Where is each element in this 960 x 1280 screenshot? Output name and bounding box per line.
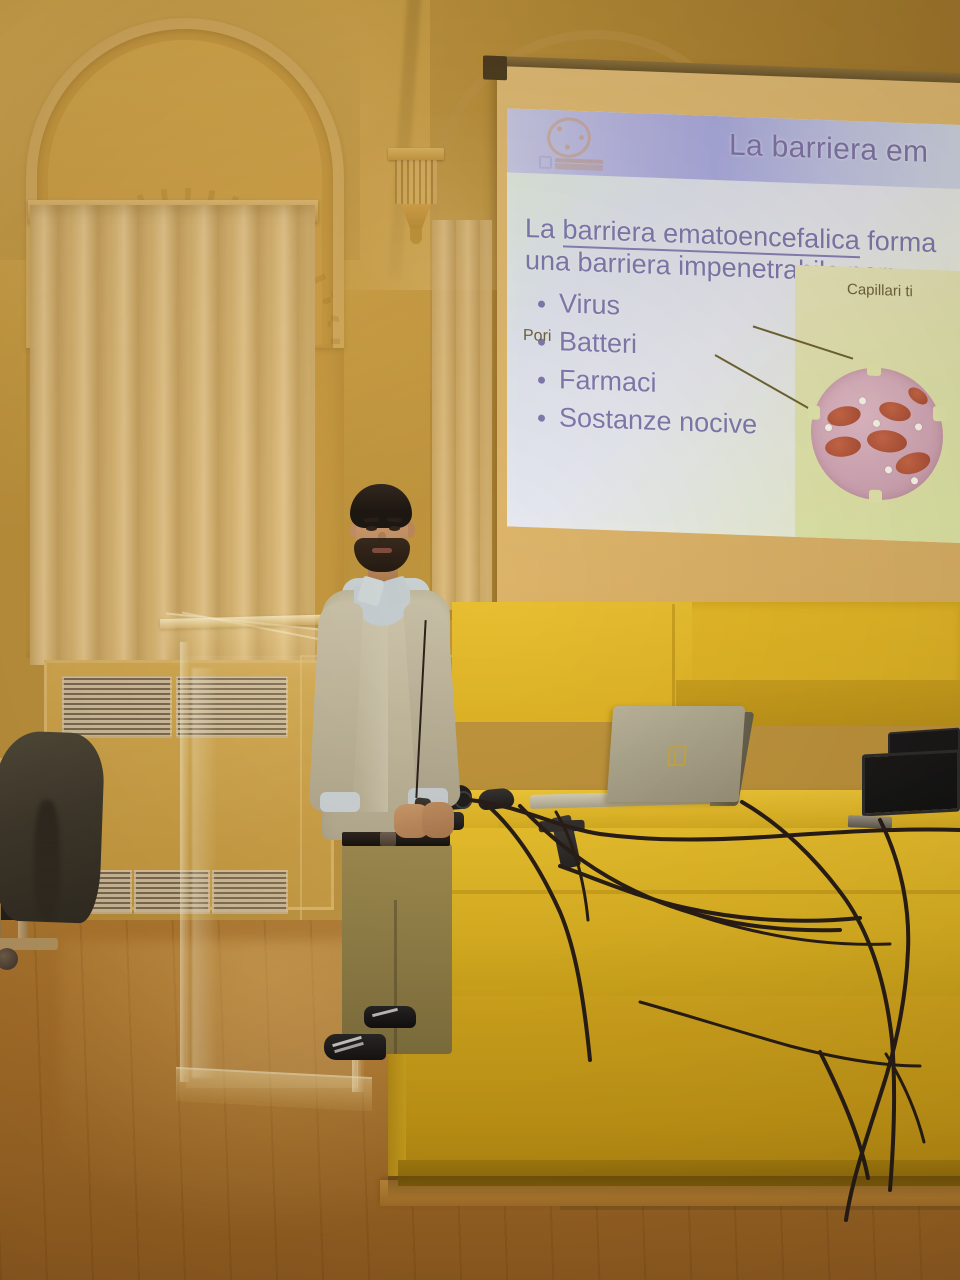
photo-warm-tone [0, 0, 960, 1280]
lecture-hall-photo: La barriera em La barriera ematoencefali… [0, 0, 960, 1280]
